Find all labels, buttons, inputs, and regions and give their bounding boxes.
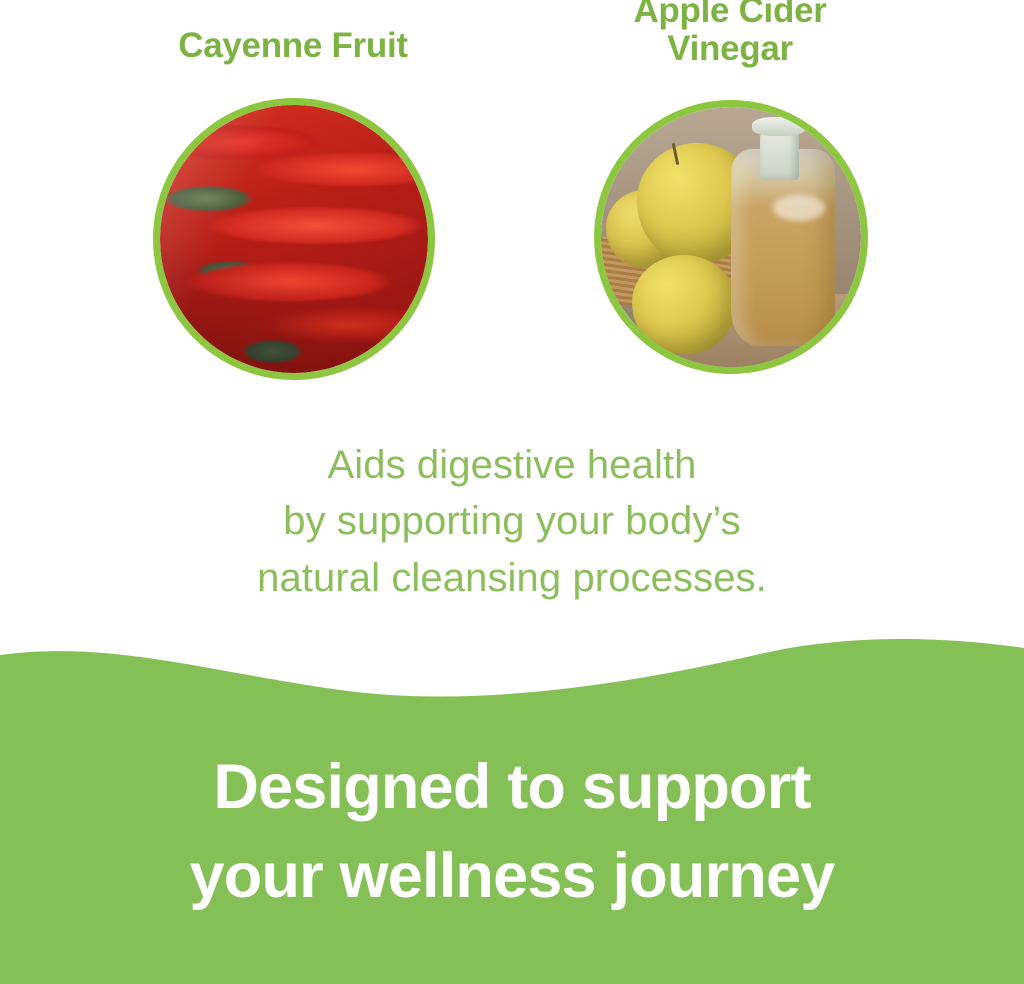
apple-shape-front — [632, 255, 736, 354]
promo-canvas: Cayenne Fruit Apple Cider Vinegar Aids d… — [0, 0, 1024, 984]
ingredient-title-cayenne: Cayenne Fruit — [133, 27, 453, 65]
bottom-banner: Designed to support your wellness journe… — [0, 620, 1024, 984]
ingredient-image-cayenne — [153, 98, 435, 380]
bottle-highlight-shape — [773, 195, 825, 221]
apple-cider-vinegar-icon — [601, 107, 861, 367]
ingredient-image-apple-cider-vinegar — [594, 100, 868, 374]
bottle-cap-shape — [752, 117, 807, 135]
banner-headline: Designed to support your wellness journe… — [0, 743, 1024, 922]
ingredient-title-apple-cider-vinegar: Apple Cider Vinegar — [575, 0, 885, 68]
cayenne-peppers-icon — [160, 105, 428, 373]
benefit-description: Aids digestive health by supporting your… — [0, 437, 1024, 606]
